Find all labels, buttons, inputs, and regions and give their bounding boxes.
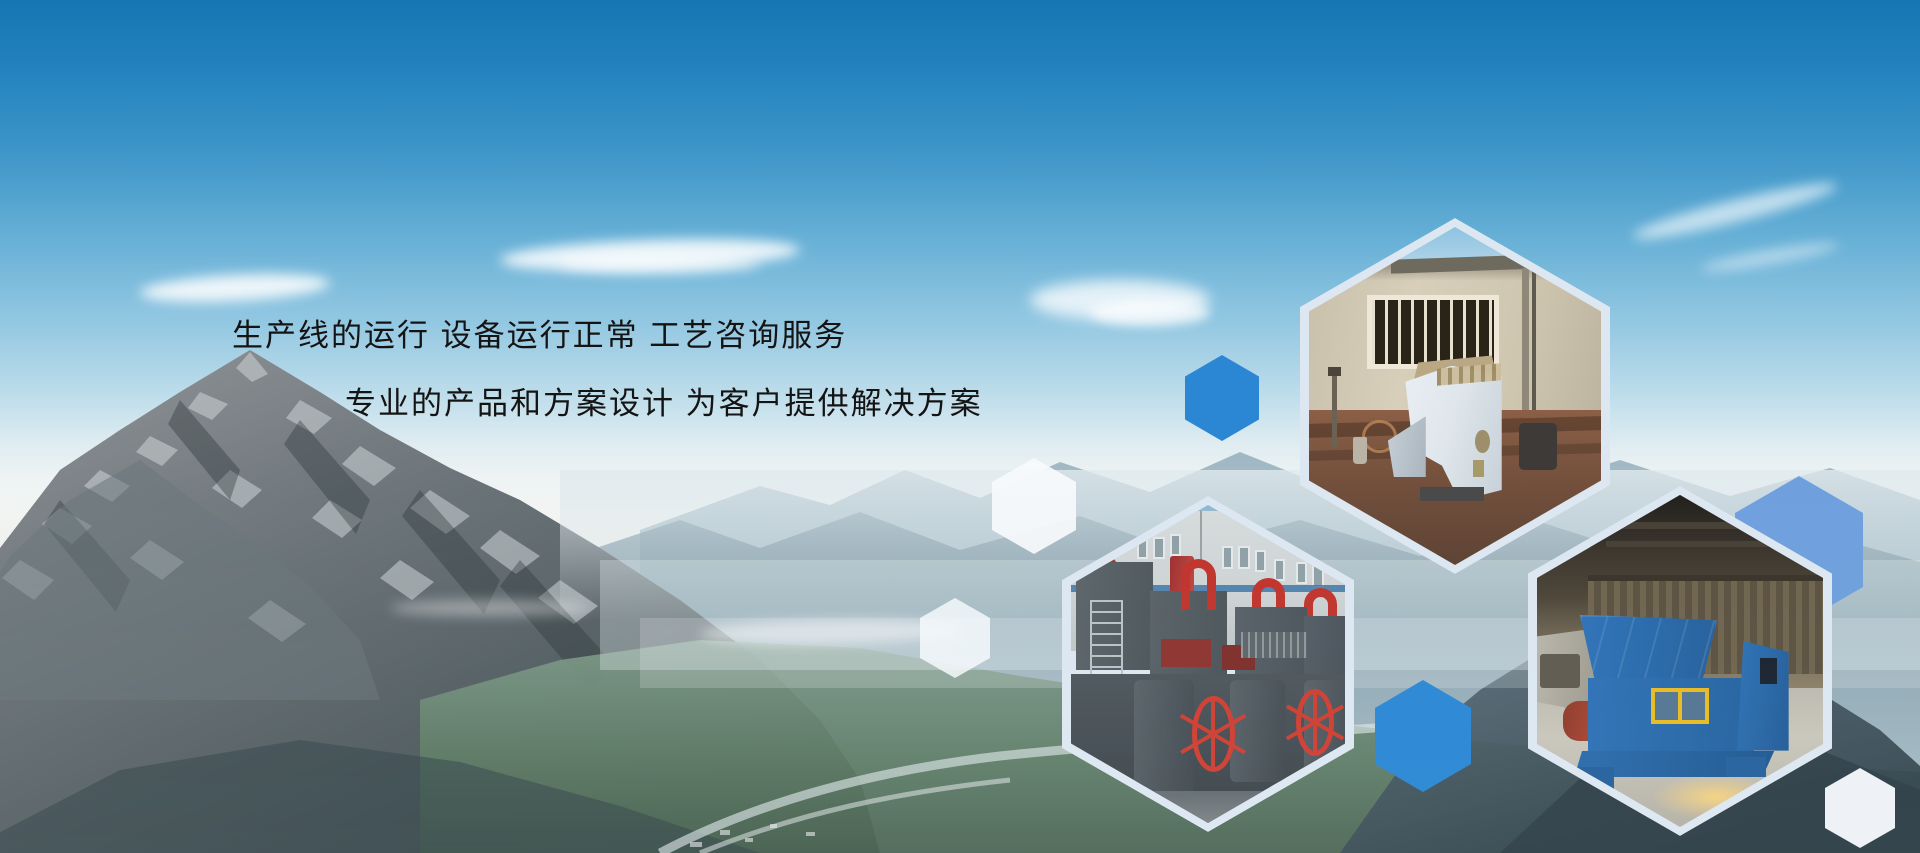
headline-line-2: 专业的产品和方案设计 为客户提供解决方案	[0, 384, 1060, 424]
headline-line-1: 生产线的运行 设备运行正常 工艺咨询服务	[0, 316, 1060, 356]
cloud-shape	[390, 600, 590, 616]
headline-block: 生产线的运行 设备运行正常 工艺咨询服务 专业的产品和方案设计 为客户提供解决方…	[0, 316, 1060, 424]
hero-banner: 生产线的运行 设备运行正常 工艺咨询服务 专业的产品和方案设计 为客户提供解决方…	[0, 0, 1920, 853]
